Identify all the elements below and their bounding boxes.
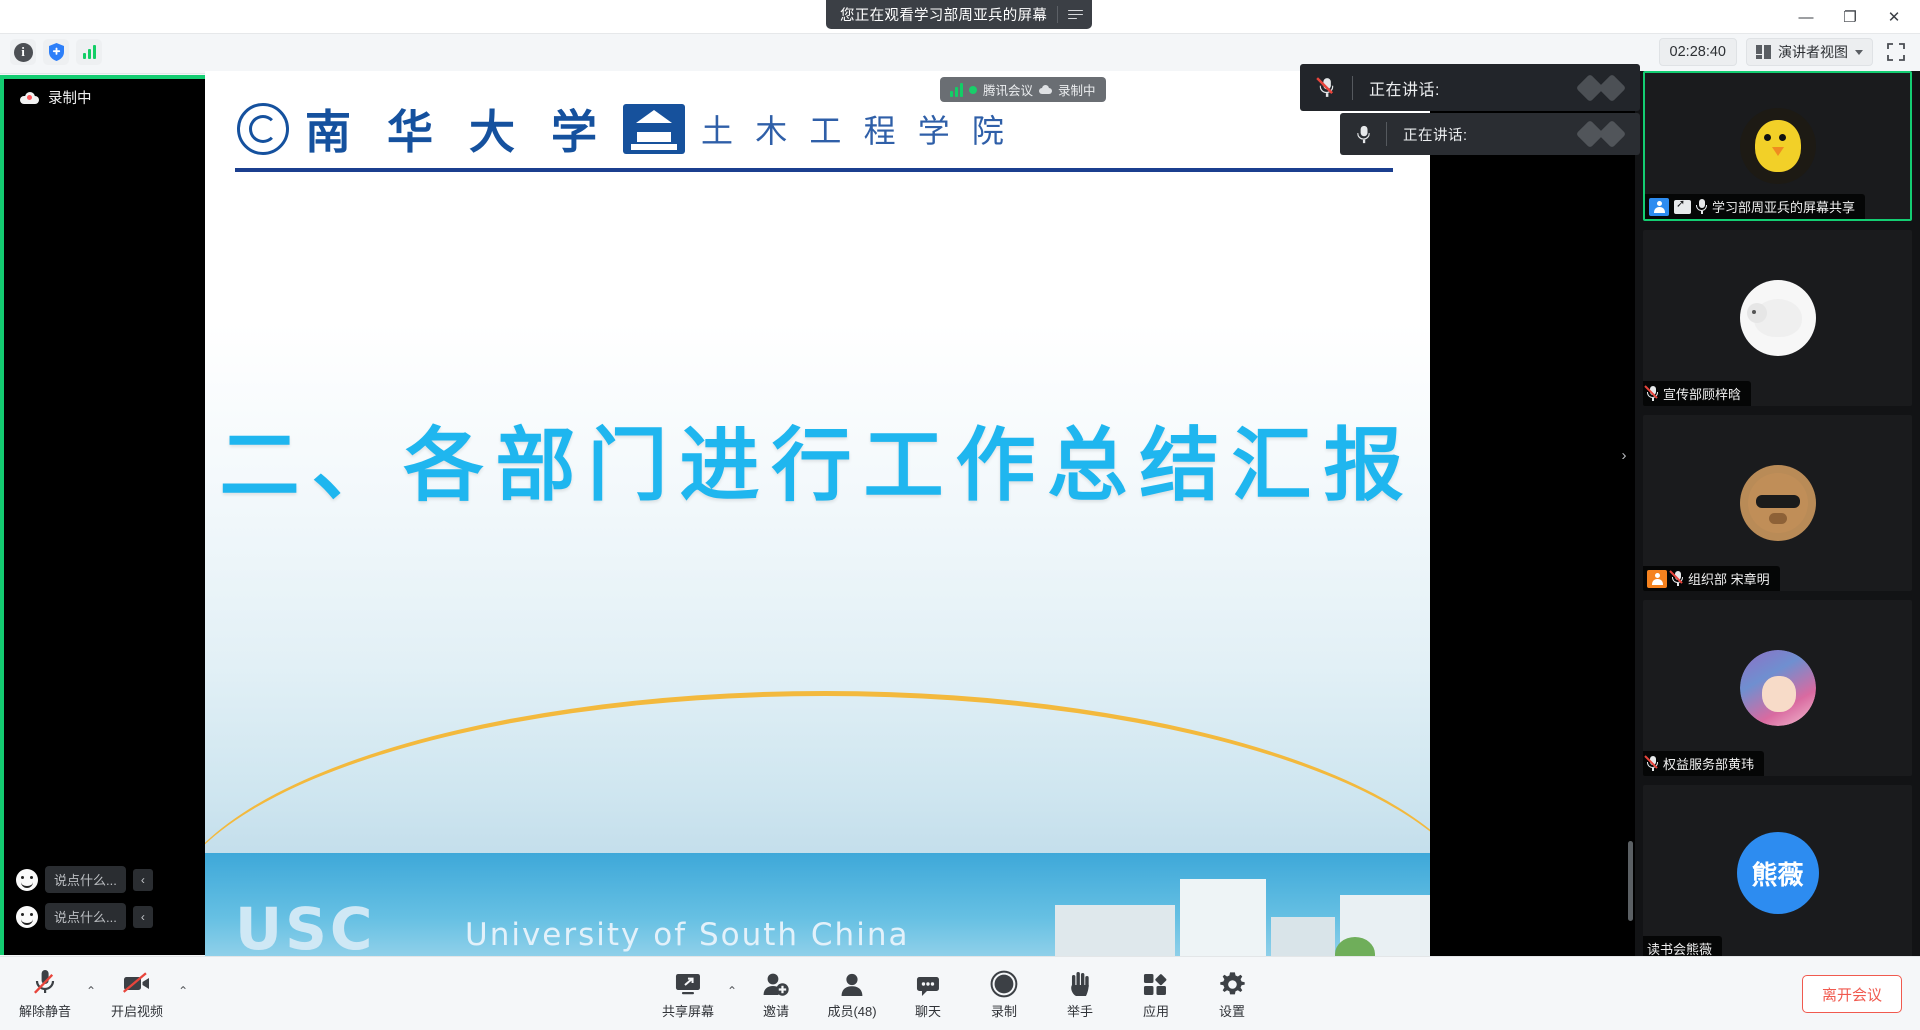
participant-name: 组织部 宋章明 [1688,569,1770,588]
maximize-button[interactable]: ❐ [1828,1,1872,33]
speaking-toast: 正在讲话: [1300,64,1640,111]
slide-footer-photo: USC University of South China [205,853,1430,971]
mute-label: 解除静音 [19,1001,71,1020]
slide-divider [235,168,1393,172]
security-button[interactable] [43,39,69,65]
title-bar: 您正在观看学习部周亚兵的屏幕 — ❐ ✕ [0,0,1920,34]
chat-label: 聊天 [915,1001,941,1020]
participant-rail[interactable]: 学习部周亚兵的屏幕共享 宣传部顾梓晗 组织部 宋章明 [1635,71,1920,971]
university-seal-icon [237,103,289,155]
mic-muted-icon [32,967,58,998]
apps-label: 应用 [1143,1001,1169,1020]
avatar [1740,465,1816,541]
chevron-down-icon [1855,50,1863,55]
participant-tile[interactable]: 熊薇 读书会熊薇 [1643,785,1912,961]
window-controls: — ❐ ✕ [1784,0,1916,34]
minimize-button[interactable]: — [1784,1,1828,33]
bottom-toolbar: 解除静音 ⌃ 开启视频 ⌃ [0,956,1920,1030]
college-name: 土 木 工 程 学 院 [701,106,1010,152]
share-options-caret[interactable]: ⌃ [727,984,737,1020]
fullscreen-button[interactable] [1882,38,1910,66]
view-mode-selector[interactable]: 演讲者视图 [1746,38,1873,66]
quick-chat-area: 说点什么... ‹ 说点什么... ‹ [16,856,186,930]
apps-icon [1142,967,1170,998]
invite-button[interactable]: 邀请 [739,963,813,1020]
participant-namebar: 宣传部顾梓晗 [1643,381,1751,406]
mic-muted-icon [1647,386,1658,401]
speaking-label: 正在讲话: [1353,76,1440,100]
chat-icon [914,967,942,998]
slide-brand-usc: USC [235,895,375,963]
self-video-panel[interactable]: 录制中 说点什么... ‹ 说点什么... ‹ [0,75,205,955]
sharing-app-label: 腾讯会议 [983,80,1033,99]
green-dot-icon [969,86,977,94]
quick-chat-row[interactable]: 说点什么... ‹ [16,903,186,930]
share-screen-button[interactable]: 共享屏幕 [651,963,725,1020]
speaking-label: 正在讲话: [1387,124,1468,145]
mic-options-caret[interactable]: ⌃ [86,984,96,1020]
share-screen-label: 共享屏幕 [662,1001,714,1020]
bottom-left-controls: 解除静音 ⌃ 开启视频 ⌃ [8,963,188,1020]
members-icon [839,967,865,998]
apps-button[interactable]: 应用 [1119,963,1193,1020]
shared-screen-stage[interactable]: 腾讯会议 录制中 南 华 大 学 土 木 工 程 学 院 二、各部门进行工作总结… [205,71,1635,971]
video-options-caret[interactable]: ⌃ [178,984,188,1020]
video-button[interactable]: 开启视频 [100,963,174,1020]
toast-decor-icon [1580,124,1622,144]
record-label: 录制 [991,1001,1017,1020]
mic-muted-icon [1672,571,1683,586]
invite-icon [762,967,790,998]
chat-button[interactable]: 聊天 [891,963,965,1020]
participant-tile[interactable]: 学习部周亚兵的屏幕共享 [1643,71,1912,221]
participant-name: 宣传部顾梓晗 [1663,384,1741,403]
screen-share-icon [1674,200,1691,214]
participant-tile[interactable]: 宣传部顾梓晗 [1643,230,1912,406]
collapse-chat-icon[interactable]: ‹ [133,869,153,891]
emoji-icon[interactable] [16,869,38,891]
record-button[interactable]: 录制 [967,963,1041,1020]
participant-tile[interactable]: 组织部 宋章明 [1643,415,1912,591]
record-icon [990,967,1018,998]
video-label: 开启视频 [111,1001,163,1020]
meeting-right-controls: 02:28:40 演讲者视图 [1659,38,1910,66]
toast-decor-icon [1580,78,1622,98]
mute-button[interactable]: 解除静音 [8,963,82,1020]
recording-indicator: 录制中 [20,87,92,108]
slide-title: 二、各部门进行工作总结汇报 [205,401,1430,517]
expand-panel-arrow[interactable]: › [1617,435,1631,475]
avatar [1740,280,1816,356]
watching-screen-label: 您正在观看学习部周亚兵的屏幕 [840,4,1047,25]
raise-hand-label: 举手 [1067,1001,1093,1020]
slide-brand-subtitle: University of South China [465,917,909,953]
shared-slide: 南 华 大 学 土 木 工 程 学 院 二、各部门进行工作总结汇报 USC Un… [205,71,1430,971]
members-label: 成员(48) [827,1001,876,1020]
camera-off-icon [122,967,152,998]
collapse-chat-icon[interactable]: ‹ [133,906,153,928]
leave-meeting-button[interactable]: 离开会议 [1802,975,1902,1013]
shield-plus-icon [47,42,66,62]
avatar [1740,650,1816,726]
university-name: 南 华 大 学 [305,96,607,162]
banner-divider [1057,6,1058,23]
participant-name: 权益服务部黄玮 [1663,754,1754,773]
participant-namebar: 权益服务部黄玮 [1643,751,1764,776]
participant-namebar: 学习部周亚兵的屏幕共享 [1645,194,1865,219]
meeting-timer: 02:28:40 [1659,38,1737,66]
status-icon-group: i [10,39,102,65]
quick-chat-input[interactable]: 说点什么... [45,866,126,893]
mic-muted-icon [1647,756,1658,771]
members-button[interactable]: 成员(48) [815,963,889,1020]
avatar: 熊薇 [1737,832,1819,914]
mic-on-icon [1340,127,1386,142]
raise-hand-icon [1067,967,1093,998]
bottom-center-controls: 共享屏幕 ⌃ 邀请 [651,963,1269,1020]
host-badge-icon [1649,198,1669,216]
participant-name: 学习部周亚兵的屏幕共享 [1712,197,1855,216]
speaker-view-icon [1756,45,1771,59]
avatar [1740,108,1816,184]
sharing-status-chip: 腾讯会议 录制中 [940,77,1106,102]
mic-on-icon [1696,199,1707,214]
share-screen-icon [673,967,703,998]
college-badge-icon [623,104,685,154]
quick-chat-row[interactable]: 说点什么... ‹ [16,866,186,893]
hamburger-icon[interactable] [1068,10,1083,20]
recording-label: 录制中 [48,87,92,108]
close-button[interactable]: ✕ [1872,1,1916,33]
info-icon: i [14,43,33,62]
view-mode-label: 演讲者视图 [1778,42,1848,62]
participant-tile[interactable]: 权益服务部黄玮 [1643,600,1912,776]
cloud-icon [1039,85,1052,94]
emoji-icon[interactable] [16,906,38,928]
network-status-button[interactable] [76,39,102,65]
mic-muted-icon [1300,80,1352,95]
cohost-badge-icon [1647,570,1667,588]
speaking-toast: 正在讲话: [1340,113,1640,155]
invite-label: 邀请 [763,1001,789,1020]
quick-chat-input[interactable]: 说点什么... [45,903,126,930]
cloud-recording-icon [20,92,39,104]
settings-button[interactable]: 设置 [1195,963,1269,1020]
slide-logo-row: 南 华 大 学 土 木 工 程 学 院 [237,96,1010,162]
settings-label: 设置 [1219,1001,1245,1020]
signal-bars-icon [950,83,963,97]
stage-scrollbar[interactable] [1628,841,1633,921]
fullscreen-icon [1887,43,1905,61]
settings-gear-icon [1219,967,1246,998]
sharing-recording-label: 录制中 [1058,80,1096,99]
meeting-info-button[interactable]: i [10,39,36,65]
signal-bars-icon [83,45,96,59]
raise-hand-button[interactable]: 举手 [1043,963,1117,1020]
participant-namebar: 组织部 宋章明 [1643,566,1780,591]
watching-screen-banner[interactable]: 您正在观看学习部周亚兵的屏幕 [826,0,1092,29]
meeting-window: 您正在观看学习部周亚兵的屏幕 — ❐ ✕ i [0,0,1920,1030]
